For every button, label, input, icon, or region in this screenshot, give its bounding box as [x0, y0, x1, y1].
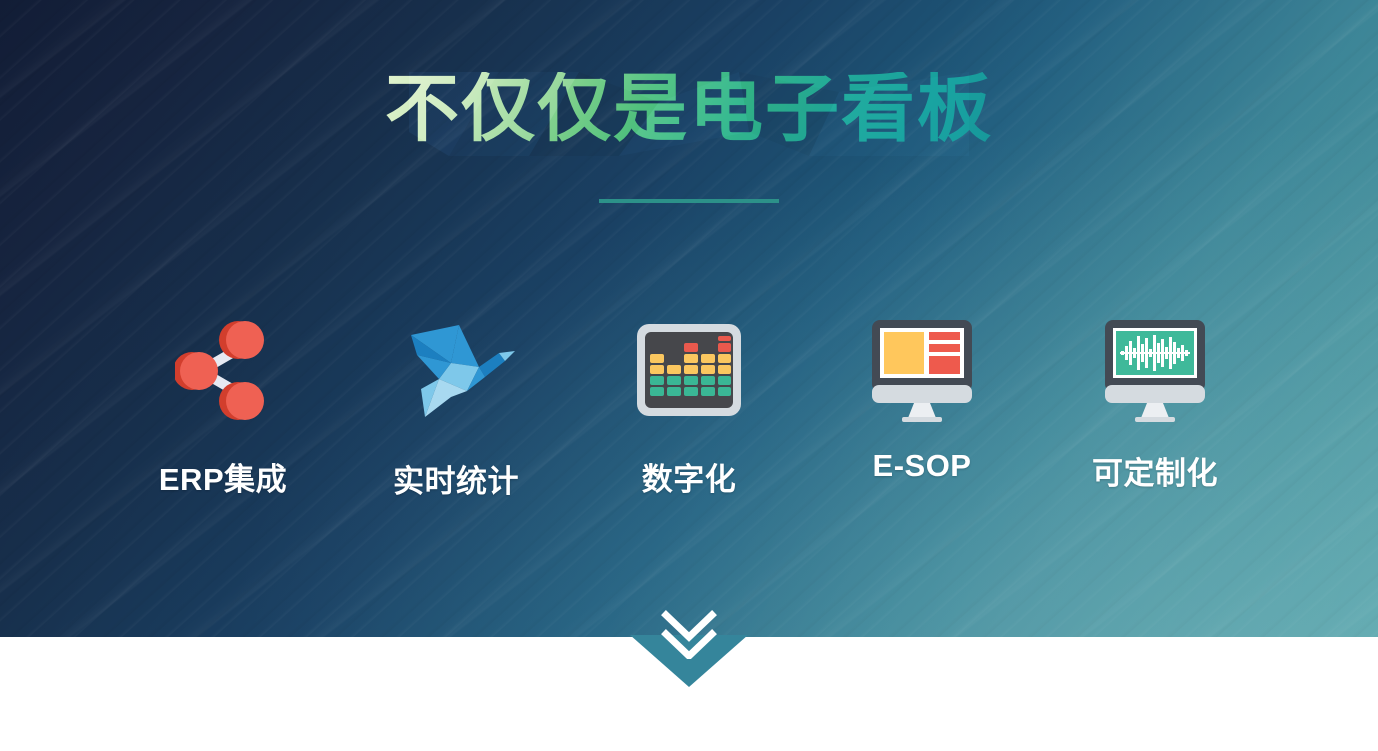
- share-network-icon: [175, 318, 271, 424]
- feature-item-erp[interactable]: ERP集成: [113, 312, 333, 499]
- origami-bird-icon: [395, 319, 517, 423]
- hero-banner: 不仅仅是电子看板: [0, 0, 1378, 637]
- page-root: 不仅仅是电子看板: [0, 0, 1378, 751]
- feature-label: 数字化: [642, 454, 737, 499]
- feature-label: 实时统计: [393, 456, 519, 501]
- equalizer-board-icon: [636, 323, 742, 419]
- feature-icon-box: [636, 312, 742, 430]
- feature-item-digital[interactable]: 数字化: [579, 312, 799, 499]
- feature-item-realtime[interactable]: 实时统计: [346, 312, 566, 501]
- feature-icon-box: [395, 312, 517, 430]
- monitor-waveform-icon: [1102, 318, 1208, 424]
- page-title-container: 不仅仅是电子看板: [0, 72, 1378, 146]
- page-title: 不仅仅是电子看板: [385, 72, 993, 146]
- feature-icon-box: [175, 312, 271, 430]
- feature-icon-box: [869, 312, 975, 430]
- feature-label: ERP集成: [159, 454, 287, 499]
- feature-list: ERP集成: [113, 312, 1265, 527]
- feature-item-customizable[interactable]: 可定制化: [1045, 312, 1265, 493]
- scroll-down-hint[interactable]: [630, 636, 748, 694]
- double-chevron-down-icon[interactable]: [658, 607, 720, 659]
- title-divider: [599, 199, 779, 203]
- monitor-layout-icon: [869, 318, 975, 424]
- feature-icon-box: [1102, 312, 1208, 430]
- feature-item-esop[interactable]: E-SOP: [812, 312, 1032, 484]
- feature-label: 可定制化: [1092, 448, 1218, 493]
- feature-label: E-SOP: [873, 448, 972, 484]
